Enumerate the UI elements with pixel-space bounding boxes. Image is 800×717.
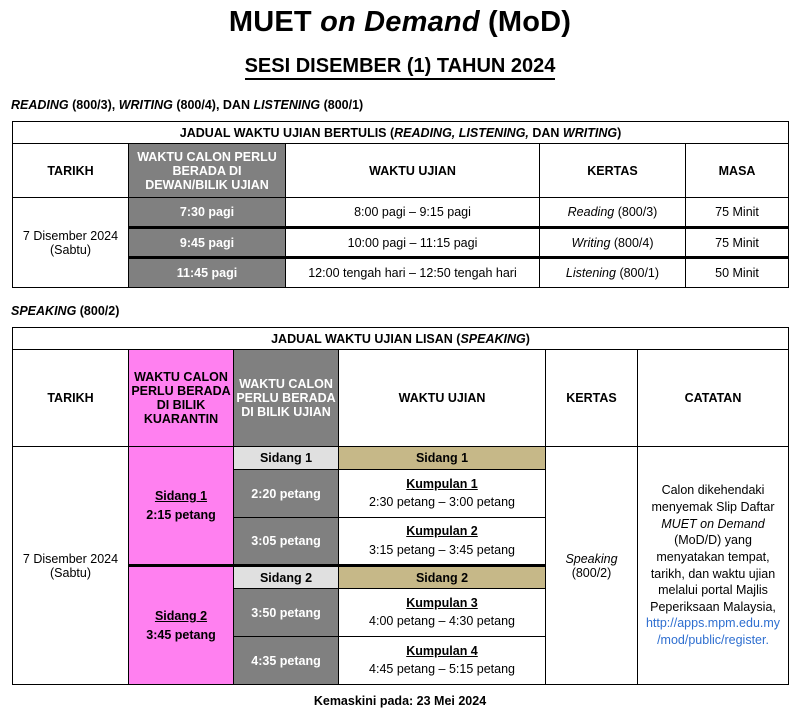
group-time: 2:30 petang – 3:00 petang — [341, 496, 543, 509]
cell-paper: Reading (800/3) — [540, 198, 686, 228]
t2-title-p2: SPEAKING — [460, 332, 525, 346]
date-text: 7 Disember 2024 — [15, 229, 126, 243]
catatan-line-2: menyemak Slip Daftar — [640, 499, 786, 516]
subtitle-text: SESI DISEMBER (1) TAHUN 2024 — [245, 55, 556, 80]
col-header-tarikh: TARIKH — [13, 350, 129, 447]
cell-paper: Writing (800/4) — [540, 228, 686, 258]
quarantine-session-label: Sidang 2 — [131, 607, 231, 626]
t1-title-p4: WRITING — [563, 126, 617, 140]
cell-duration: 75 Minit — [686, 198, 789, 228]
cell-room-time: 3:05 petang — [234, 518, 339, 566]
table-row: 7 Disember 2024 (Sabtu) Sidang 1 2:15 pe… — [13, 447, 789, 470]
col-header-waktu-ujian: WAKTU UJIAN — [286, 144, 540, 198]
section1-label-writing: WRITING — [119, 98, 173, 112]
section1-label-reading: READING — [11, 98, 69, 112]
t1-title-p3: DAN — [529, 126, 563, 140]
section2-label-code: (800/2) — [76, 304, 119, 318]
table2-header-row: TARIKH WAKTU CALON PERLU BERADA DI BILIK… — [13, 350, 789, 447]
cell-group-slot: Kumpulan 2 3:15 petang – 3:45 petang — [339, 518, 546, 566]
col-header-waktu-kuarantin: WAKTU CALON PERLU BERADA DI BILIK KUARAN… — [129, 350, 234, 447]
section1-label-p2: (800/3), — [69, 98, 119, 112]
table2-title-row: JADUAL WAKTU UJIAN LISAN (SPEAKING) — [13, 328, 789, 350]
cell-exam-time: 8:00 pagi – 9:15 pagi — [286, 198, 540, 228]
cell-catatan: Calon dikehendaki menyemak Slip Daftar M… — [638, 447, 789, 685]
last-updated-text: Kemaskini pada: 23 Mei 2024 — [0, 694, 800, 708]
paper-name: Writing — [572, 236, 611, 250]
catatan-line-4: (MoD/D) yang — [640, 532, 786, 549]
speaking-exam-table: JADUAL WAKTU UJIAN LISAN (SPEAKING) TARI… — [12, 327, 789, 685]
cell-session-banner: Sidang 2 — [339, 566, 546, 589]
t2-title-p3: ) — [526, 332, 530, 346]
cell-paper: Speaking (800/2) — [546, 447, 638, 685]
paper-name: Speaking — [548, 552, 635, 566]
schedule-page: MUET on Demand (MoD) SESI DISEMBER (1) T… — [0, 0, 800, 717]
cell-duration: 75 Minit — [686, 228, 789, 258]
cell-session-marker: Sidang 2 — [234, 566, 339, 589]
quarantine-session-time: 2:15 petang — [131, 506, 231, 525]
catatan-line-6: tarikh, dan waktu ujian — [640, 566, 786, 583]
cell-quarantine-session-2: Sidang 2 3:45 petang — [129, 566, 234, 685]
title-part-2: (MoD) — [480, 6, 571, 38]
day-text: (Sabtu) — [15, 243, 126, 257]
quarantine-session-label: Sidang 1 — [131, 487, 231, 506]
page-title: MUET on Demand (MoD) — [0, 6, 800, 39]
group-time: 4:00 petang – 4:30 petang — [341, 615, 543, 628]
title-part-italic: on Demand — [320, 6, 480, 38]
catatan-line-3: MUET on Demand — [640, 516, 786, 533]
table1-title: JADUAL WAKTU UJIAN BERTULIS (READING, LI… — [13, 122, 789, 144]
quarantine-session-time: 3:45 petang — [131, 626, 231, 645]
col-header-kertas: KERTAS — [546, 350, 638, 447]
cell-group-slot: Kumpulan 4 4:45 petang – 5:15 petang — [339, 637, 546, 685]
section2-label: SPEAKING (800/2) — [11, 304, 119, 318]
cell-arrival-time: 9:45 pagi — [129, 228, 286, 258]
cell-room-time: 3:50 petang — [234, 589, 339, 637]
cell-arrival-time: 7:30 pagi — [129, 198, 286, 228]
group-label: Kumpulan 4 — [341, 645, 543, 658]
cell-session-marker: Sidang 1 — [234, 447, 339, 470]
cell-quarantine-session-1: Sidang 1 2:15 petang — [129, 447, 234, 566]
group-label: Kumpulan 2 — [341, 525, 543, 538]
cell-duration: 50 Minit — [686, 258, 789, 288]
cell-date: 7 Disember 2024 (Sabtu) — [13, 198, 129, 288]
title-part-1: MUET — [229, 6, 320, 38]
section2-label-speaking: SPEAKING — [11, 304, 76, 318]
paper-code: (800/4) — [610, 236, 653, 250]
cell-group-slot: Kumpulan 3 4:00 petang – 4:30 petang — [339, 589, 546, 637]
cell-exam-time: 12:00 tengah hari – 12:50 tengah hari — [286, 258, 540, 288]
paper-code: (800/1) — [616, 266, 659, 280]
t1-title-p1: JADUAL WAKTU UJIAN BERTULIS ( — [180, 126, 394, 140]
registration-link-line-2[interactable]: /mod/public/register. — [640, 632, 786, 649]
day-text: (Sabtu) — [15, 566, 126, 580]
cell-group-slot: Kumpulan 1 2:30 petang – 3:00 petang — [339, 470, 546, 518]
section1-label-p4: (800/4), DAN — [173, 98, 254, 112]
table2-title: JADUAL WAKTU UJIAN LISAN (SPEAKING) — [13, 328, 789, 350]
table-row: 11:45 pagi 12:00 tengah hari – 12:50 ten… — [13, 258, 789, 288]
t2-title-p1: JADUAL WAKTU UJIAN LISAN ( — [271, 332, 460, 346]
written-exam-table: JADUAL WAKTU UJIAN BERTULIS (READING, LI… — [12, 121, 789, 288]
col-header-tarikh: TARIKH — [13, 144, 129, 198]
table-row: 9:45 pagi 10:00 pagi – 11:15 pagi Writin… — [13, 228, 789, 258]
group-time: 4:45 petang – 5:15 petang — [341, 663, 543, 676]
col-header-catatan: CATATAN — [638, 350, 789, 447]
cell-arrival-time: 11:45 pagi — [129, 258, 286, 288]
registration-link-line-1[interactable]: http://apps.mpm.edu.my — [640, 615, 786, 632]
paper-name: Reading — [568, 205, 615, 219]
catatan-line-5: menyatakan tempat, — [640, 549, 786, 566]
paper-code: (800/2) — [548, 566, 635, 580]
page-subtitle: SESI DISEMBER (1) TAHUN 2024 — [0, 55, 800, 78]
section1-label-listening: LISTENING — [253, 98, 320, 112]
cell-room-time: 2:20 petang — [234, 470, 339, 518]
t1-title-p2: READING, LISTENING, — [394, 126, 529, 140]
cell-paper: Listening (800/1) — [540, 258, 686, 288]
paper-name: Listening — [566, 266, 616, 280]
paper-code: (800/3) — [614, 205, 657, 219]
col-header-kertas: KERTAS — [540, 144, 686, 198]
cell-session-banner: Sidang 1 — [339, 447, 546, 470]
table-row: 7 Disember 2024 (Sabtu) 7:30 pagi 8:00 p… — [13, 198, 789, 228]
col-header-masa: MASA — [686, 144, 789, 198]
catatan-line-7: melalui portal Majlis — [640, 582, 786, 599]
cell-exam-time: 10:00 pagi – 11:15 pagi — [286, 228, 540, 258]
group-label: Kumpulan 3 — [341, 597, 543, 610]
catatan-line-1: Calon dikehendaki — [640, 482, 786, 499]
col-header-waktu-ujian: WAKTU UJIAN — [339, 350, 546, 447]
catatan-line-8: Peperiksaan Malaysia, — [640, 599, 786, 616]
table1-header-row: TARIKH WAKTU CALON PERLU BERADA DI DEWAN… — [13, 144, 789, 198]
table1-title-row: JADUAL WAKTU UJIAN BERTULIS (READING, LI… — [13, 122, 789, 144]
section1-label: READING (800/3), WRITING (800/4), DAN LI… — [11, 98, 363, 112]
cell-date: 7 Disember 2024 (Sabtu) — [13, 447, 129, 685]
group-time: 3:15 petang – 3:45 petang — [341, 544, 543, 557]
section1-label-p6: (800/1) — [320, 98, 363, 112]
date-text: 7 Disember 2024 — [15, 552, 126, 566]
group-label: Kumpulan 1 — [341, 478, 543, 491]
t1-title-p5: ) — [617, 126, 621, 140]
col-header-waktu-bilik-ujian: WAKTU CALON PERLU BERADA DI BILIK UJIAN — [234, 350, 339, 447]
cell-room-time: 4:35 petang — [234, 637, 339, 685]
col-header-waktu-calon-dewan: WAKTU CALON PERLU BERADA DI DEWAN/BILIK … — [129, 144, 286, 198]
